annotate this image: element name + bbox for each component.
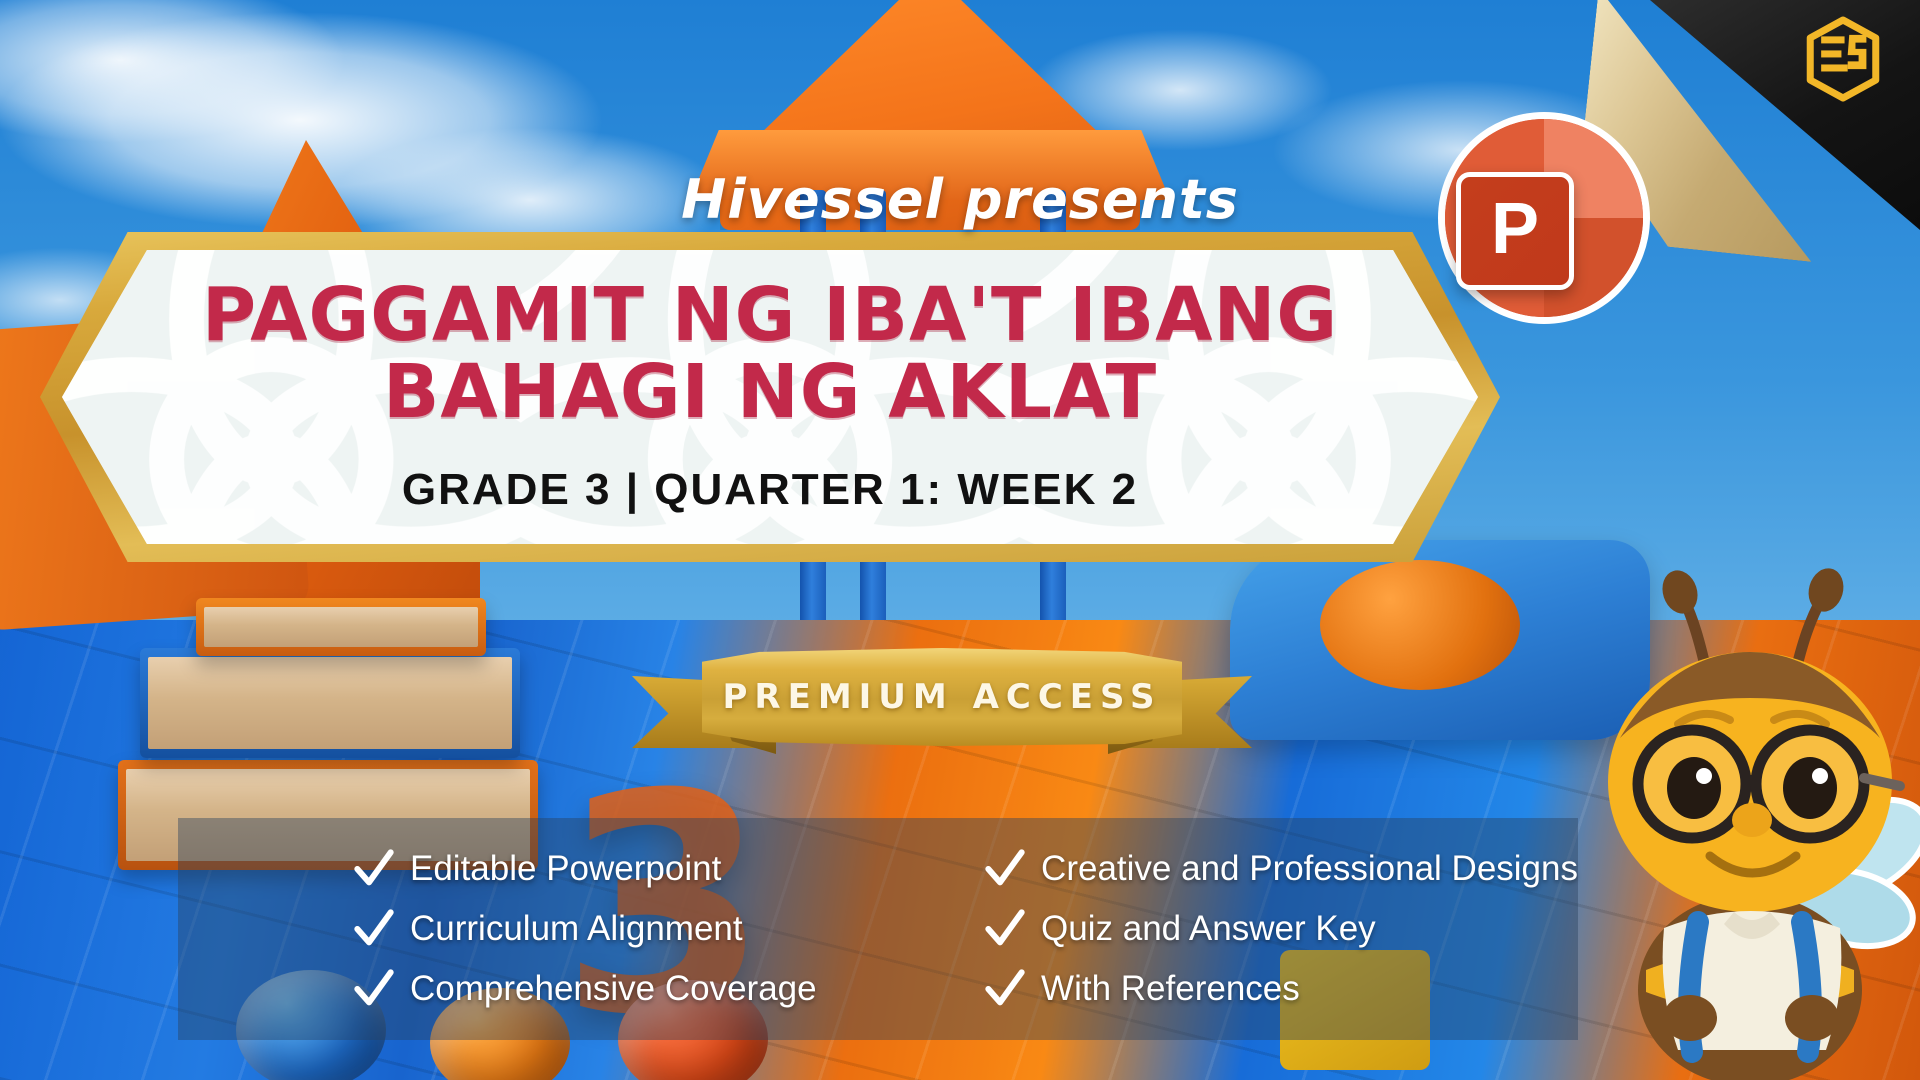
check-icon [985, 849, 1025, 889]
feature-item: With References [985, 969, 1578, 1009]
feature-item: Editable Powerpoint [354, 849, 875, 889]
ribbon-label: PREMIUM ACCESS [702, 648, 1182, 746]
feature-label: With References [1041, 969, 1300, 1009]
bee-mascot [1560, 520, 1920, 1080]
feature-item: Curriculum Alignment [354, 909, 875, 949]
feature-item: Creative and Professional Designs [985, 849, 1578, 889]
feature-item: Quiz and Answer Key [985, 909, 1578, 949]
grade-quarter-week: GRADE 3 | QUARTER 1: WEEK 2 [402, 465, 1138, 515]
powerpoint-tile: P [1456, 172, 1574, 290]
powerpoint-letter: P [1491, 193, 1539, 265]
feature-label: Creative and Professional Designs [1041, 849, 1578, 889]
feature-item: Comprehensive Coverage [354, 969, 875, 1009]
slide-cover: 3 Hivessel presents [0, 0, 1920, 1080]
check-icon [354, 849, 394, 889]
check-icon [354, 909, 394, 949]
check-icon [985, 969, 1025, 1009]
check-icon [354, 969, 394, 1009]
premium-access-ribbon: PREMIUM ACCESS [632, 648, 1252, 756]
feature-label: Comprehensive Coverage [410, 969, 817, 1009]
book-stack-upper [140, 648, 520, 758]
hivessel-hex-logo-icon [1804, 16, 1882, 102]
book-stack-top [196, 598, 486, 656]
lesson-title-line-2: BAHAGI NG AKLAT [383, 356, 1157, 429]
lesson-title-line-1: PAGGAMIT NG IBA'T IBANG [202, 279, 1338, 352]
banner-inner-panel: PAGGAMIT NG IBA'T IBANG BAHAGI NG AKLAT … [62, 250, 1478, 544]
feature-label: Editable Powerpoint [410, 849, 721, 889]
check-icon [985, 909, 1025, 949]
feature-label: Quiz and Answer Key [1041, 909, 1376, 949]
powerpoint-badge: P [1438, 112, 1650, 324]
orange-disc [1320, 560, 1520, 690]
features-panel: Editable Powerpoint Curriculum Alignment… [178, 818, 1578, 1040]
feature-label: Curriculum Alignment [410, 909, 743, 949]
title-banner: PAGGAMIT NG IBA'T IBANG BAHAGI NG AKLAT … [40, 232, 1500, 562]
banner-text-block: PAGGAMIT NG IBA'T IBANG BAHAGI NG AKLAT … [62, 250, 1478, 544]
features-column-left: Editable Powerpoint Curriculum Alignment… [178, 818, 875, 1040]
features-column-right: Creative and Professional Designs Quiz a… [875, 818, 1578, 1040]
book-pages [204, 607, 478, 647]
book-pages [148, 657, 512, 749]
